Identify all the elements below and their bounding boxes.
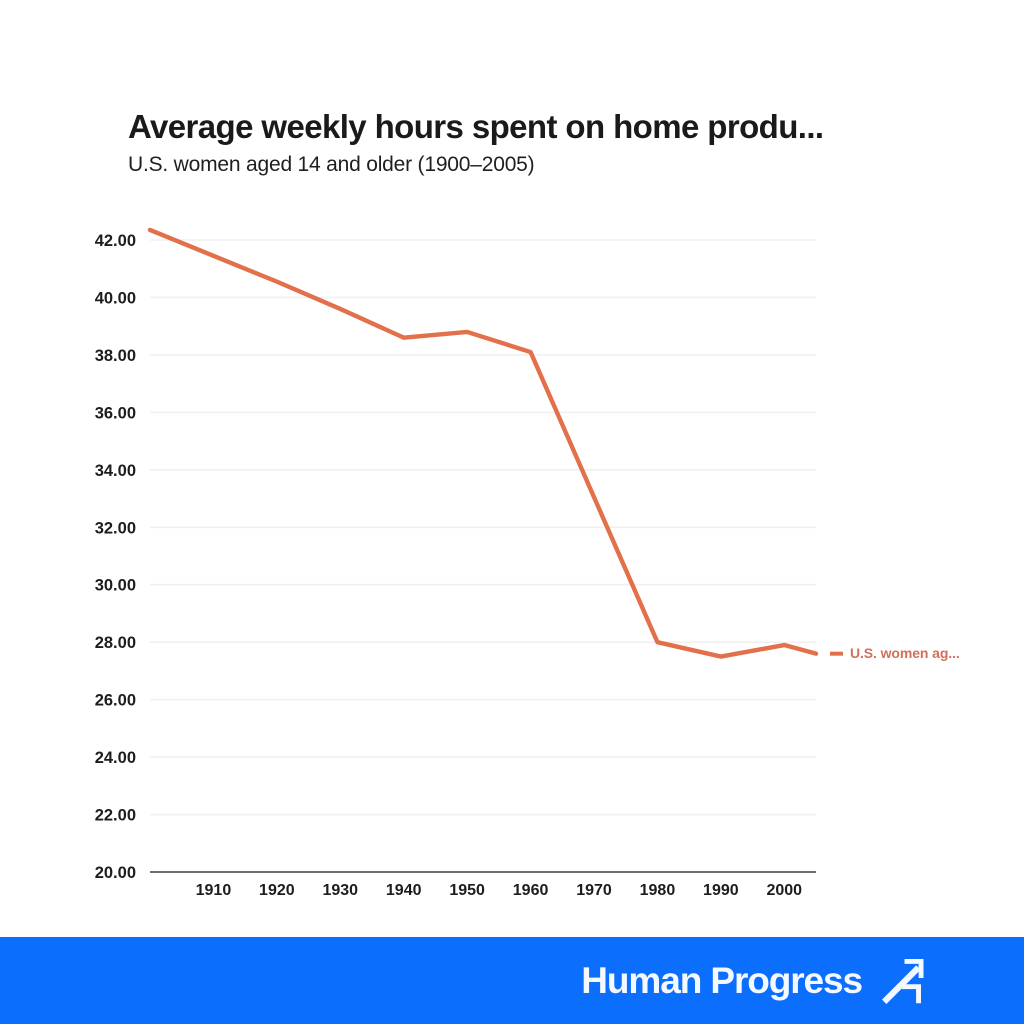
x-axis-tick-label: 1950 (449, 882, 485, 899)
y-axis-tick-labels: 20.0022.0024.0026.0028.0030.0032.0034.00… (95, 232, 136, 882)
y-axis-tick-label: 36.00 (95, 404, 136, 422)
x-axis-tick-label: 1920 (259, 882, 295, 899)
x-axis-tick-label: 1940 (386, 882, 422, 899)
x-axis-tick-label: 1970 (576, 882, 612, 899)
data-line[interactable] (150, 230, 816, 657)
y-axis-tick-label: 38.00 (95, 347, 136, 365)
y-axis-tick-label: 32.00 (95, 519, 136, 537)
x-axis-tick-label: 2000 (766, 882, 802, 899)
y-axis-tick-label: 42.00 (95, 232, 136, 250)
y-axis-tick-label: 22.00 (95, 807, 136, 825)
y-axis-tick-label: 40.00 (95, 289, 136, 307)
double-arrow-growth-icon (876, 955, 928, 1007)
series-group[interactable] (150, 230, 816, 657)
x-axis-tick-label: 1930 (322, 882, 358, 899)
y-axis-tick-label: 30.00 (95, 577, 136, 595)
y-axis-tick-label: 28.00 (95, 634, 136, 652)
y-axis-tick-label: 20.00 (95, 864, 136, 882)
footer-bar: Human Progress (0, 937, 1024, 1024)
chart-card: Average weekly hours spent on home produ… (0, 0, 1024, 1024)
y-axis-tick-label: 34.00 (95, 462, 136, 480)
plot-area: 20.0022.0024.0026.0028.0030.0032.0034.00… (0, 0, 1024, 940)
x-axis-tick-label: 1910 (196, 882, 232, 899)
y-axis-tick-label: 24.00 (95, 749, 136, 767)
brand-name: Human Progress (581, 960, 862, 1002)
legend-entry-label[interactable]: U.S. women ag... (850, 645, 960, 661)
brand-lockup[interactable]: Human Progress (581, 955, 928, 1007)
x-axis-tick-label: 1980 (640, 882, 676, 899)
x-axis-tick-label: 1990 (703, 882, 739, 899)
x-axis-tick-label: 1960 (513, 882, 549, 899)
line-chart-svg: 20.0022.0024.0026.0028.0030.0032.0034.00… (0, 0, 1024, 940)
x-axis-tick-labels: 1910192019301940195019601970198019902000 (196, 882, 803, 899)
y-axis-tick-label: 26.00 (95, 692, 136, 710)
